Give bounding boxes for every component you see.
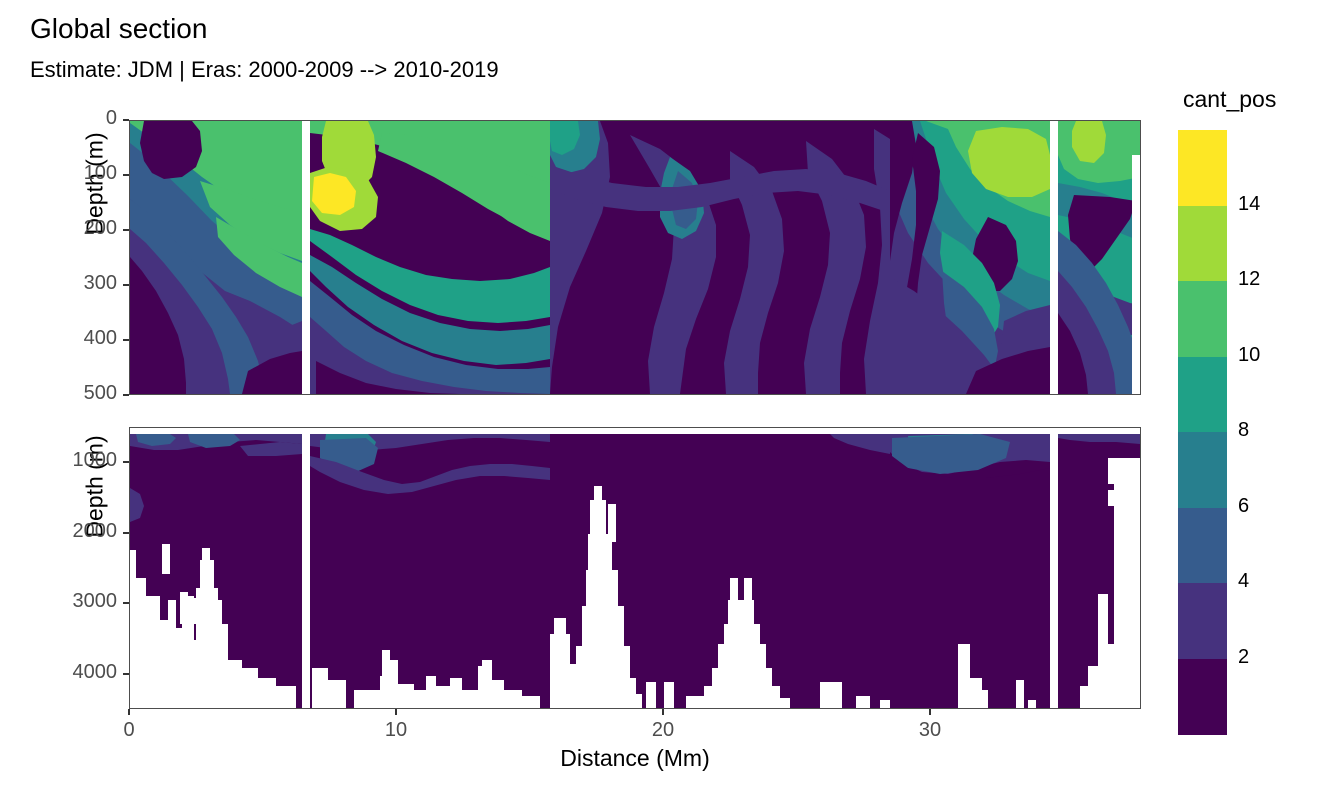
y-tick-mark-top bbox=[123, 284, 129, 286]
legend-colorbar[interactable] bbox=[1178, 130, 1227, 734]
y-tick-mark-top bbox=[123, 229, 129, 231]
y-tick-label-bottom: 3000 bbox=[23, 590, 117, 613]
legend-title: cant_pos bbox=[1183, 86, 1276, 113]
contour-group-center bbox=[550, 121, 890, 394]
legend-tick-label: 6 bbox=[1238, 495, 1249, 518]
y-tick-mark-bottom bbox=[123, 532, 129, 534]
contour-group-right bbox=[890, 121, 1050, 394]
legend-tick-label: 2 bbox=[1238, 646, 1249, 669]
y-tick-label-bottom: 4000 bbox=[23, 661, 117, 684]
page-title: Global section bbox=[30, 13, 207, 45]
x-tick-label: 20 bbox=[623, 719, 703, 742]
legend-band bbox=[1178, 432, 1227, 508]
legend-band bbox=[1178, 130, 1227, 206]
legend-band bbox=[1178, 206, 1227, 282]
x-tick-label: 10 bbox=[356, 719, 436, 742]
y-tick-mark-bottom bbox=[123, 602, 129, 604]
legend-band bbox=[1178, 357, 1227, 433]
contour-group-left bbox=[130, 121, 302, 394]
y-tick-label-bottom: 1000 bbox=[23, 449, 117, 472]
contour-group-far-right bbox=[1058, 121, 1140, 394]
y-tick-mark-bottom bbox=[123, 461, 129, 463]
y-tick-label-bottom: 2000 bbox=[23, 520, 117, 543]
legend-tick-label: 8 bbox=[1238, 419, 1249, 442]
legend-tick-label: 4 bbox=[1238, 570, 1249, 593]
x-tick-mark bbox=[929, 709, 931, 715]
y-tick-label-top: 300 bbox=[23, 272, 117, 295]
legend-band bbox=[1178, 583, 1227, 659]
section-break-1 bbox=[302, 121, 310, 394]
x-tick-mark bbox=[395, 709, 397, 715]
y-tick-label-top: 500 bbox=[23, 382, 117, 405]
bottom-section-panel bbox=[129, 427, 1141, 709]
legend-band bbox=[1178, 281, 1227, 357]
x-tick-label: 0 bbox=[89, 719, 169, 742]
legend-band bbox=[1178, 659, 1227, 735]
section-break-2-bottom bbox=[1050, 428, 1058, 708]
y-tick-mark-top bbox=[123, 174, 129, 176]
top-section-panel bbox=[129, 120, 1141, 395]
page-subtitle: Estimate: JDM | Eras: 2000-2009 --> 2010… bbox=[30, 57, 499, 83]
y-tick-mark-top bbox=[123, 339, 129, 341]
top-section-contour-field bbox=[130, 121, 1140, 394]
legend-tick-label: 12 bbox=[1238, 268, 1260, 291]
y-tick-label-top: 400 bbox=[23, 327, 117, 350]
y-axis-title-bottom: Depth (m) bbox=[82, 387, 109, 587]
section-break-1-bottom bbox=[302, 428, 310, 708]
bottom-section-contour-field bbox=[130, 428, 1140, 708]
legend-tick-label: 14 bbox=[1238, 193, 1260, 216]
legend-tick-label: 10 bbox=[1238, 344, 1260, 367]
x-tick-mark bbox=[128, 709, 130, 715]
y-tick-mark-top bbox=[123, 119, 129, 121]
y-tick-label-top: 0 bbox=[23, 107, 117, 130]
y-tick-mark-top bbox=[123, 394, 129, 396]
x-tick-mark bbox=[662, 709, 664, 715]
y-tick-mark-bottom bbox=[123, 673, 129, 675]
x-tick-label: 30 bbox=[890, 719, 970, 742]
deep-water-field bbox=[130, 428, 1140, 708]
legend-band bbox=[1178, 508, 1227, 584]
x-axis-title: Distance (Mm) bbox=[129, 745, 1141, 772]
y-tick-label-top: 200 bbox=[23, 217, 117, 240]
y-tick-label-top: 100 bbox=[23, 162, 117, 185]
section-break-2 bbox=[1050, 121, 1058, 394]
